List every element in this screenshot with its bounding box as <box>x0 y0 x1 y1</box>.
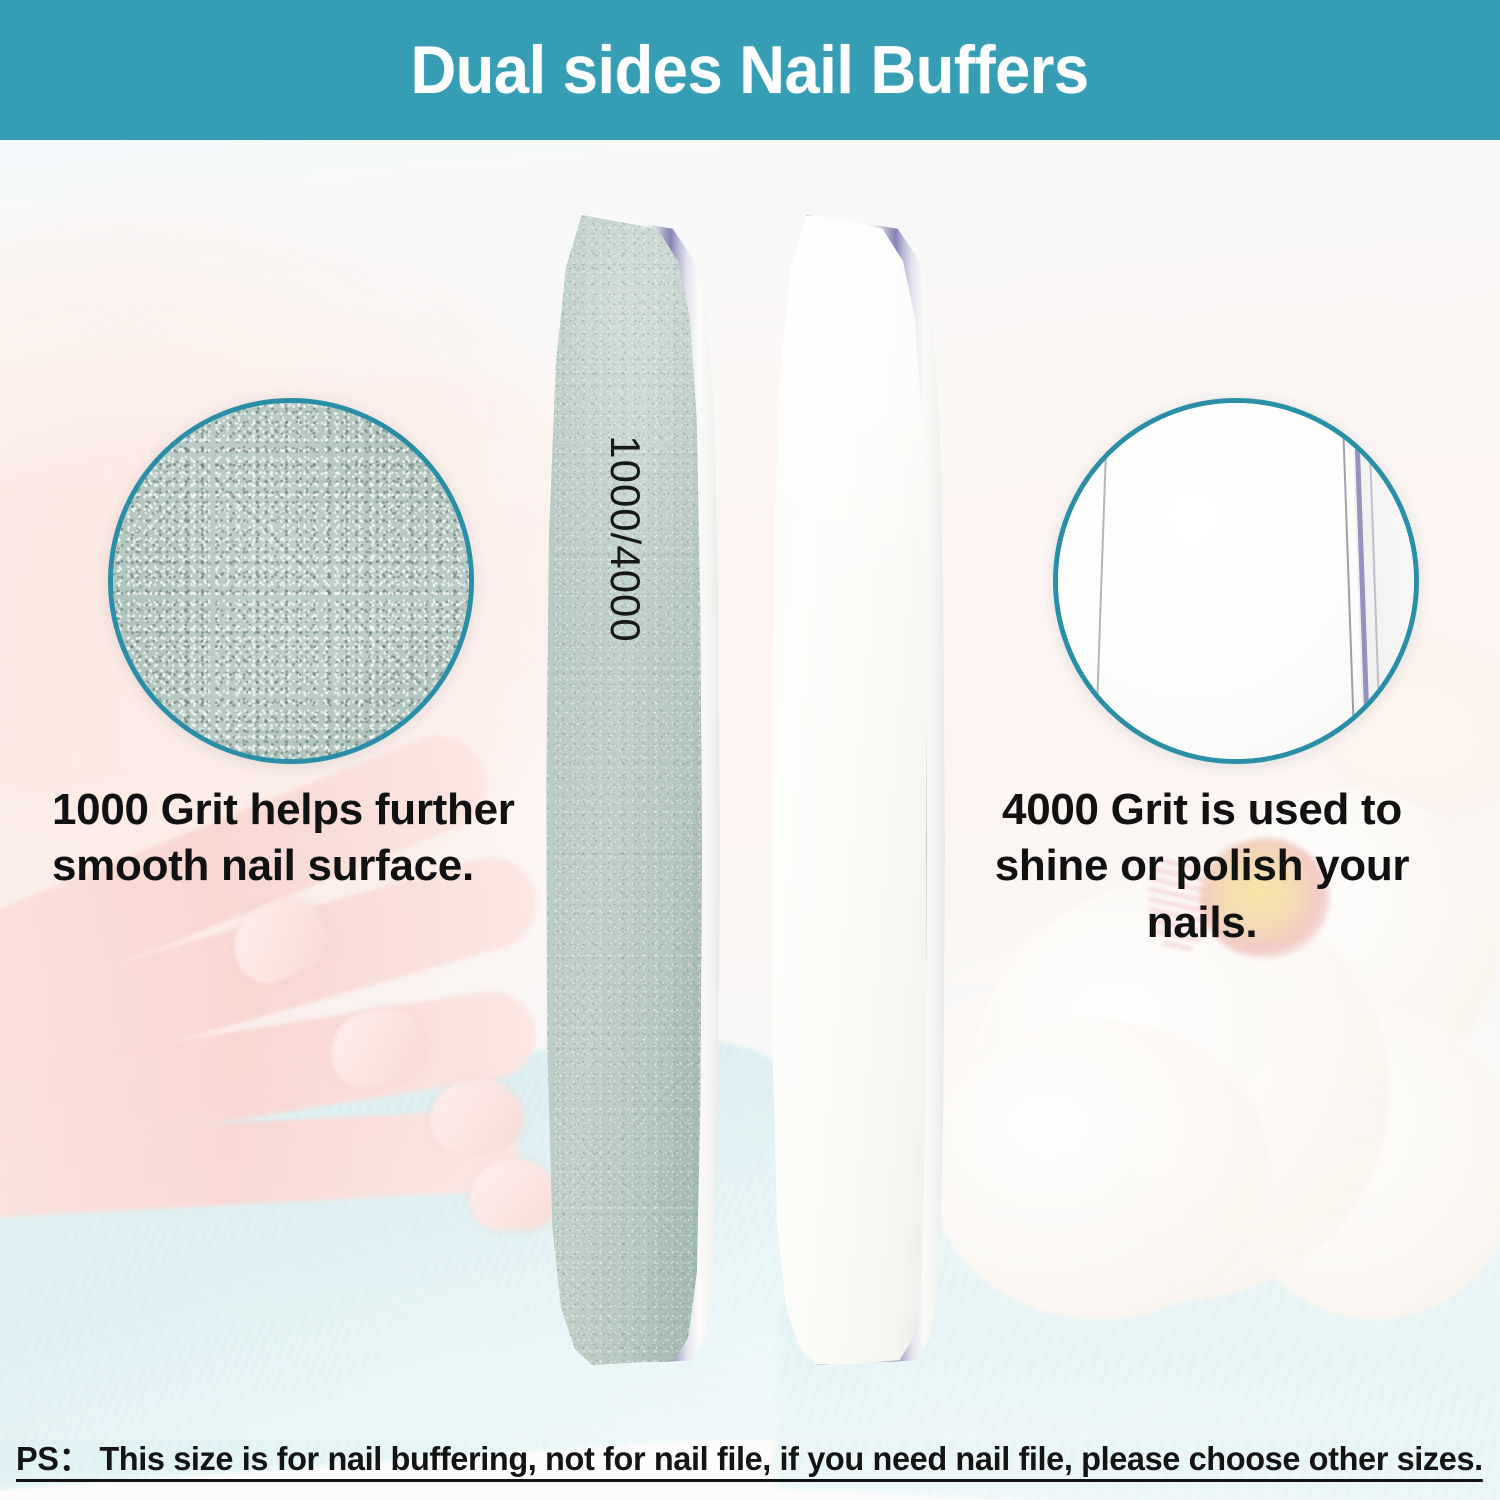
header-banner: Dual sides Nail Buffers <box>0 0 1500 140</box>
infographic-canvas: Dual sides Nail Buffers 1000/4000 1000 G… <box>0 0 1500 1500</box>
buffer-green-face <box>530 215 702 1365</box>
buffer-green-grit-texture <box>530 215 702 1365</box>
buffer-white-face <box>755 215 927 1365</box>
magnifier-circle-1000-grit <box>108 398 474 764</box>
footer-ps-note: PS： This size is for nail buffering, not… <box>16 1432 1472 1480</box>
caption-right-4000-grit: 4000 Grit is used to shine or polish you… <box>952 782 1452 951</box>
magnifier-left-grit-texture <box>108 398 474 764</box>
grit-label: 1000/4000 <box>601 435 649 643</box>
magnifier-circle-4000-grit <box>1053 398 1419 764</box>
orchid-petal-bottom <box>930 1020 1270 1320</box>
caption-left-1000-grit: 1000 Grit helps further smooth nail surf… <box>52 782 522 895</box>
nail-buffer-white <box>755 215 945 1365</box>
page-title: Dual sides Nail Buffers <box>411 36 1089 104</box>
nail-buffer-green: 1000/4000 <box>530 215 720 1365</box>
